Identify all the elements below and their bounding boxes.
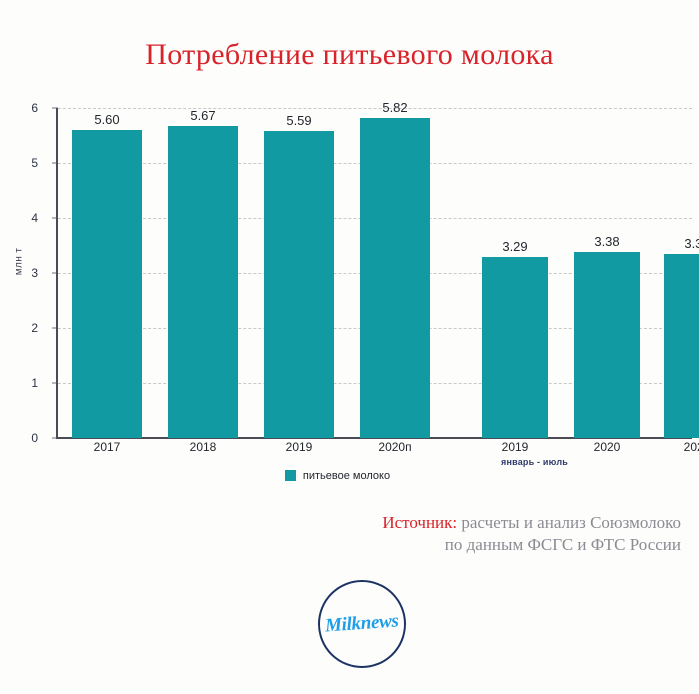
source-prefix: Источник: — [382, 513, 457, 532]
y-tick-label-0: 0 — [4, 431, 38, 445]
y-axis-ticks: 6 5 4 3 2 1 0 — [0, 108, 52, 438]
legend-item-milk[interactable]: питьевое молоко — [285, 470, 390, 482]
x-label-2021-period: 2021 — [664, 440, 699, 454]
bar-slot-2018[interactable]: 5.67 — [168, 108, 238, 438]
bar-value-2020-period: 3.38 — [594, 234, 619, 249]
source-line-2: по данным ФСГС и ФТС России — [382, 534, 681, 556]
bar-2019-period[interactable] — [482, 257, 548, 438]
bar-slot-2020p[interactable]: 5.82 — [360, 108, 430, 438]
bar-value-2020p: 5.82 — [382, 100, 407, 115]
bar-2017[interactable] — [72, 130, 142, 438]
legend-swatch-icon — [285, 470, 296, 481]
x-label-2017: 2017 — [72, 440, 142, 454]
period-note: январь - июль — [0, 457, 699, 467]
bar-2020p[interactable] — [360, 118, 430, 438]
legend-label-milk: питьевое молоко — [303, 470, 390, 482]
x-label-2020p: 2020п — [360, 440, 430, 454]
y-tick-label-5: 5 — [4, 156, 38, 170]
source-line-1: Источник: расчеты и анализ Союзмолоко — [382, 512, 681, 534]
y-tick-label-2: 2 — [4, 321, 38, 335]
bar-slot-2019-year[interactable]: 5.59 — [264, 108, 334, 438]
chart-legend: питьевое молоко — [0, 468, 699, 486]
bar-2019-year[interactable] — [264, 131, 334, 438]
bar-2018[interactable] — [168, 126, 238, 438]
bar-2021-period[interactable] — [664, 254, 699, 438]
chart-plot-area: млн т 6 5 4 3 2 1 0 5.60 5.67 — [0, 108, 699, 438]
bar-2020-period[interactable] — [574, 252, 640, 438]
y-tick-label-4: 4 — [4, 211, 38, 225]
bar-value-2019-period: 3.29 — [502, 239, 527, 254]
y-tick-label-6: 6 — [4, 101, 38, 115]
period-note-text: январь - июль — [501, 457, 568, 467]
x-label-2020-period: 2020 — [574, 440, 640, 454]
milknews-logo[interactable]: Milknews — [318, 580, 406, 668]
page-title: Потребление питьевого молока — [0, 38, 699, 72]
bar-value-2018: 5.67 — [190, 108, 215, 123]
y-tick-label-1: 1 — [4, 376, 38, 390]
source-text-1: расчеты и анализ Союзмолоко — [457, 513, 681, 532]
bar-value-2019-year: 5.59 — [286, 113, 311, 128]
bar-slot-2021-period[interactable]: 3.35 — [664, 108, 699, 438]
bar-value-2017: 5.60 — [94, 112, 119, 127]
x-label-2019-period: 2019 — [482, 440, 548, 454]
bar-slot-2017[interactable]: 5.60 — [72, 108, 142, 438]
source-note: Источник: расчеты и анализ Союзмолоко по… — [382, 512, 681, 556]
bar-slot-2019-period[interactable]: 3.29 — [482, 108, 548, 438]
bar-value-2021-period: 3.35 — [684, 236, 699, 251]
logo-text: Milknews — [325, 610, 400, 637]
x-label-2018: 2018 — [168, 440, 238, 454]
bar-slot-2020-period[interactable]: 3.38 — [574, 108, 640, 438]
y-tick-label-3: 3 — [4, 266, 38, 280]
x-label-2019-year: 2019 — [264, 440, 334, 454]
bars-layer: 5.60 5.67 5.59 5.82 3.29 3.38 3.35 — [58, 108, 692, 438]
